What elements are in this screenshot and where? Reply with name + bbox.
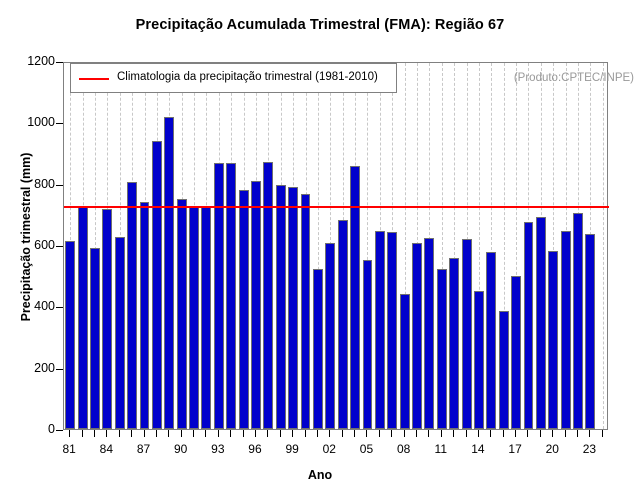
x-tick-mark [466,430,467,437]
x-axis-label: Ano [0,468,640,482]
bar [78,207,88,429]
x-tick-mark [441,430,442,437]
bar [499,311,509,429]
bar [288,187,298,429]
x-tick-label: 08 [389,442,419,456]
gridline [603,63,604,429]
bar [251,181,261,429]
x-tick-label: 93 [203,442,233,456]
bar [177,199,187,429]
bar [301,194,311,429]
x-tick-mark [416,430,417,437]
x-tick-mark [478,430,479,437]
x-tick-mark [404,430,405,437]
bar [226,163,236,429]
x-tick-label: 14 [463,442,493,456]
y-tick-mark [56,430,63,431]
bar [115,237,125,429]
bar [90,248,100,429]
y-tick-mark [56,62,63,63]
bar [363,260,373,429]
x-tick-mark [366,430,367,437]
bar [201,207,211,429]
x-tick-mark [267,430,268,437]
chart-title: Precipitação Acumulada Trimestral (FMA):… [0,17,640,33]
x-tick-mark [391,430,392,437]
bar [511,276,521,429]
y-tick-label: 1000 [15,116,55,129]
y-tick-mark [56,123,63,124]
x-tick-mark [453,430,454,437]
plot-area [63,62,608,430]
bar [214,163,224,429]
y-tick-mark [56,307,63,308]
x-tick-mark [230,430,231,437]
x-tick-label: 17 [500,442,530,456]
x-tick-mark [94,430,95,437]
x-tick-mark [119,430,120,437]
x-tick-mark [329,430,330,437]
bar [387,232,397,429]
x-tick-mark [255,430,256,437]
x-tick-mark [602,430,603,437]
x-tick-mark [106,430,107,437]
x-tick-label: 05 [351,442,381,456]
y-tick-mark [56,246,63,247]
x-tick-label: 99 [277,442,307,456]
x-tick-mark [515,430,516,437]
bar [375,231,385,429]
x-tick-mark [589,430,590,437]
x-tick-mark [156,430,157,437]
x-tick-mark [565,430,566,437]
bar [189,206,199,429]
chart-figure: Precipitação Acumulada Trimestral (FMA):… [0,0,640,500]
bar [164,117,174,429]
x-tick-label: 02 [314,442,344,456]
x-tick-mark [205,430,206,437]
x-tick-label: 84 [91,442,121,456]
x-tick-mark [292,430,293,437]
x-tick-mark [503,430,504,437]
bar [263,162,273,429]
x-tick-label: 20 [537,442,567,456]
x-tick-label: 87 [129,442,159,456]
bar [325,243,335,429]
bar [462,239,472,429]
x-tick-mark [527,430,528,437]
y-tick-label: 800 [15,178,55,191]
x-tick-label: 96 [240,442,270,456]
x-tick-mark [552,430,553,437]
x-tick-mark [168,430,169,437]
bar [127,182,137,429]
x-tick-mark [82,430,83,437]
x-tick-mark [540,430,541,437]
x-tick-mark [243,430,244,437]
y-tick-mark [56,185,63,186]
bar [400,294,410,429]
bar [536,217,546,429]
x-tick-mark [305,430,306,437]
x-tick-mark [69,430,70,437]
x-tick-mark [181,430,182,437]
bar [313,269,323,429]
bar [474,291,484,429]
x-tick-mark [317,430,318,437]
y-tick-label: 0 [15,423,55,436]
bar [239,190,249,429]
y-tick-label: 200 [15,362,55,375]
x-tick-label: 90 [166,442,196,456]
bar [437,269,447,429]
bar [449,258,459,429]
x-tick-mark [193,430,194,437]
bar [524,222,534,429]
legend-label-climatologia: Climatologia da precipitação trimestral … [117,71,378,83]
bar [140,202,150,429]
x-tick-label: 23 [574,442,604,456]
x-tick-label: 81 [54,442,84,456]
bar [486,252,496,429]
bar [102,209,112,429]
bar [548,251,558,429]
bar [276,185,286,429]
x-tick-mark [428,430,429,437]
bar [561,231,571,429]
x-tick-mark [218,430,219,437]
climatology-reference-line [64,206,609,208]
x-tick-label: 11 [426,442,456,456]
x-tick-mark [490,430,491,437]
bar [424,238,434,429]
bar [152,141,162,429]
bar [585,234,595,429]
bar [412,243,422,429]
x-tick-mark [342,430,343,437]
x-tick-mark [144,430,145,437]
legend: Climatologia da precipitação trimestral … [70,63,397,93]
bar [573,213,583,429]
x-tick-mark [131,430,132,437]
y-tick-label: 400 [15,300,55,313]
bar [65,241,75,429]
x-tick-mark [379,430,380,437]
x-tick-mark [280,430,281,437]
legend-line-swatch [79,78,109,80]
y-tick-mark [56,369,63,370]
y-tick-label: 600 [15,239,55,252]
y-tick-label: 1200 [15,55,55,68]
bar [338,220,348,429]
x-tick-mark [354,430,355,437]
x-tick-mark [577,430,578,437]
produto-annotation: (Produto:CPTEC/INPE) [514,72,634,84]
